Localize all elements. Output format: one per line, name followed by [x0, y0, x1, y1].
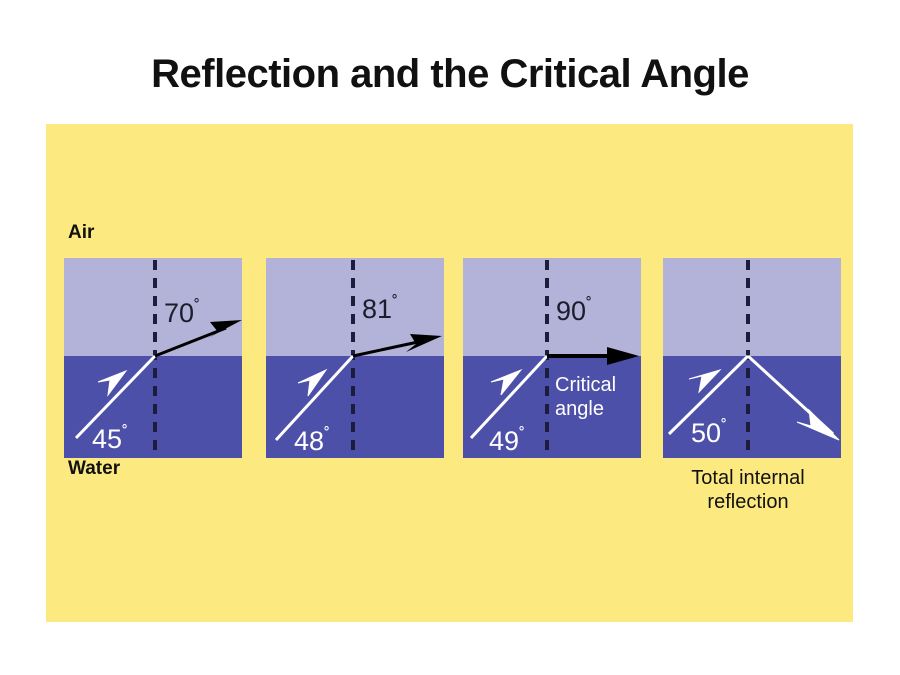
- water-medium-label: Water: [68, 458, 120, 480]
- page-title: Reflection and the Critical Angle: [0, 52, 900, 97]
- refraction-panel-45[interactable]: 70˚ 45˚: [64, 258, 242, 458]
- slide-canvas: Reflection and the Critical Angle Air Wa…: [0, 0, 900, 675]
- refraction-panel-48[interactable]: 81˚ 48˚: [266, 258, 444, 458]
- refraction-panel-50-total-internal-reflection[interactable]: 50˚: [663, 258, 841, 458]
- air-region: [663, 258, 841, 356]
- refraction-panel-49-critical[interactable]: 90˚ Critical angle 49˚: [463, 258, 641, 458]
- total-internal-reflection-caption: Total internal reflection: [643, 466, 853, 514]
- critical-angle-note: Critical: [555, 374, 616, 396]
- critical-angle-note-line2: angle: [555, 398, 604, 420]
- air-region: [463, 258, 641, 356]
- water-region: [663, 356, 841, 458]
- diagram-card: Air Water 70˚ 45˚: [46, 124, 853, 622]
- air-medium-label: Air: [68, 222, 94, 244]
- diagram-stage: Air Water 70˚ 45˚: [46, 124, 853, 622]
